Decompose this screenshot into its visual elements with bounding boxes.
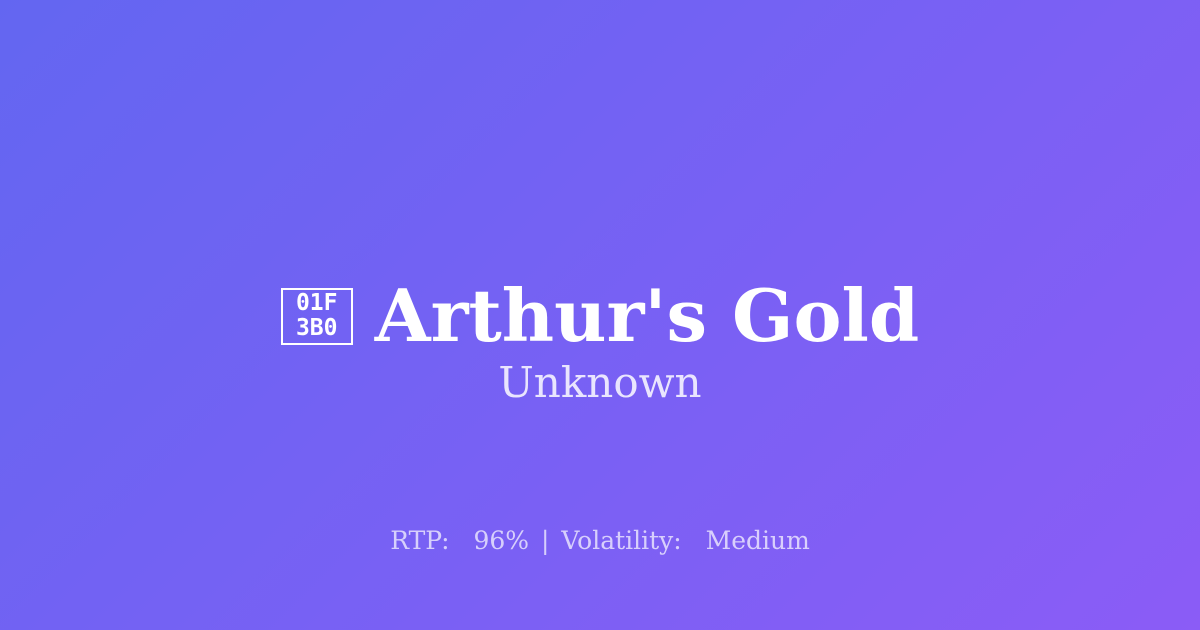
page-title: Arthur's Gold <box>375 280 920 352</box>
game-meta-line: RTP: 96% | Volatility: Medium <box>0 528 1200 553</box>
volatility-value: Medium <box>706 526 810 555</box>
volatility-label: Volatility: <box>561 526 681 555</box>
game-provider-subtitle: Unknown <box>0 362 1200 404</box>
tofu-codepoint-line-2: 3B0 <box>296 316 338 341</box>
rtp-label: RTP: <box>390 526 449 555</box>
meta-separator: | <box>537 526 553 555</box>
slot-machine-emoji-icon: 01F 3B0 <box>281 288 353 345</box>
rtp-value: 96% <box>473 526 529 555</box>
tofu-codepoint-line-1: 01F <box>296 291 338 316</box>
og-card: 01F 3B0 Arthur's Gold Unknown RTP: 96% |… <box>0 0 1200 630</box>
